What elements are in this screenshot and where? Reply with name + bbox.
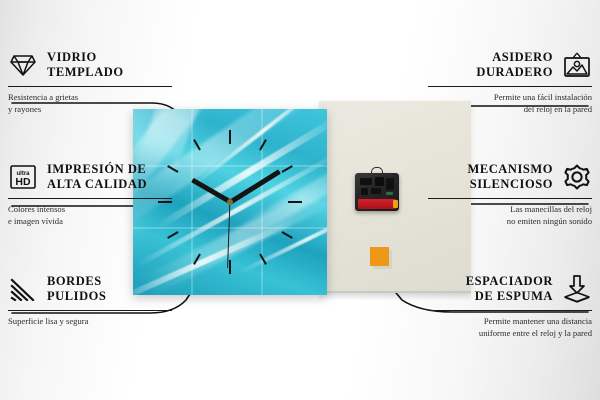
feature-header: MECANISMO SILENCIOSO [428,160,592,194]
clock-tick-3 [230,201,302,203]
feature-divider [8,310,172,311]
foam-spacer [370,247,389,266]
mechanism-battery [358,199,396,209]
down-arrow-layers-icon [562,274,592,304]
feature-divider [428,310,592,311]
feature-description: Resistencia a grietas y rayones [8,91,172,115]
mechanism-battery-terminal [393,200,398,208]
svg-text:HD: HD [15,176,31,188]
feature-header: BORDES PULIDOS [8,272,172,306]
feature-header: ESPACIADOR DE ESPUMA [428,272,592,306]
clock-mechanism [355,167,399,211]
diamond-icon [8,50,38,80]
feature-header: ultra HD IMPRESIÓN DE ALTA CALIDAD [8,160,172,194]
feature-description: Las manecillas del reloj no emiten ningú… [428,203,592,227]
feature-title: IMPRESIÓN DE ALTA CALIDAD [47,162,147,192]
hanging-picture-icon [562,50,592,80]
feature-divider [8,86,172,87]
feature-description: Permite una fácil instalación del reloj … [428,91,592,115]
feature-divider [8,198,172,199]
clock-center-cap [227,199,233,205]
feature-divider [428,86,592,87]
feature-bordes-pulidos: BORDES PULIDOS Superficie lisa y segura [8,272,172,327]
mechanism-body [355,173,399,211]
feature-impresion-alta-calidad: ultra HD IMPRESIÓN DE ALTA CALIDAD Color… [8,160,172,227]
clock-tick-12 [229,130,231,202]
feature-title: MECANISMO SILENCIOSO [467,162,553,192]
feature-title: ESPACIADOR DE ESPUMA [466,274,553,304]
feature-description: Colores intensos e imagen vívida [8,203,172,227]
feature-header: ASIDERO DURADERO [428,48,592,82]
feature-vidrio-templado: VIDRIO TEMPLADO Resistencia a grietas y … [8,48,172,115]
feature-title: VIDRIO TEMPLADO [47,50,124,80]
feature-header: VIDRIO TEMPLADO [8,48,172,82]
feature-asidero-duradero: ASIDERO DURADERO Permite una fácil insta… [428,48,592,115]
feature-description: Permite mantener una distancia uniforme … [428,315,592,339]
diagonal-lines-icon [8,274,38,304]
feature-mecanismo-silencioso: MECANISMO SILENCIOSO Las manecillas del … [428,160,592,227]
feature-espaciador-de-espuma: ESPACIADOR DE ESPUMA Permite mantener un… [428,272,592,339]
feature-title: ASIDERO DURADERO [476,50,553,80]
feature-title: BORDES PULIDOS [47,274,106,304]
gear-icon [562,162,592,192]
product-infographic: VIDRIO TEMPLADO Resistencia a grietas y … [0,0,600,400]
feature-description: Superficie lisa y segura [8,315,172,327]
feature-divider [428,198,592,199]
ultra-hd-icon: ultra HD [8,162,38,192]
product-stage [133,105,471,295]
